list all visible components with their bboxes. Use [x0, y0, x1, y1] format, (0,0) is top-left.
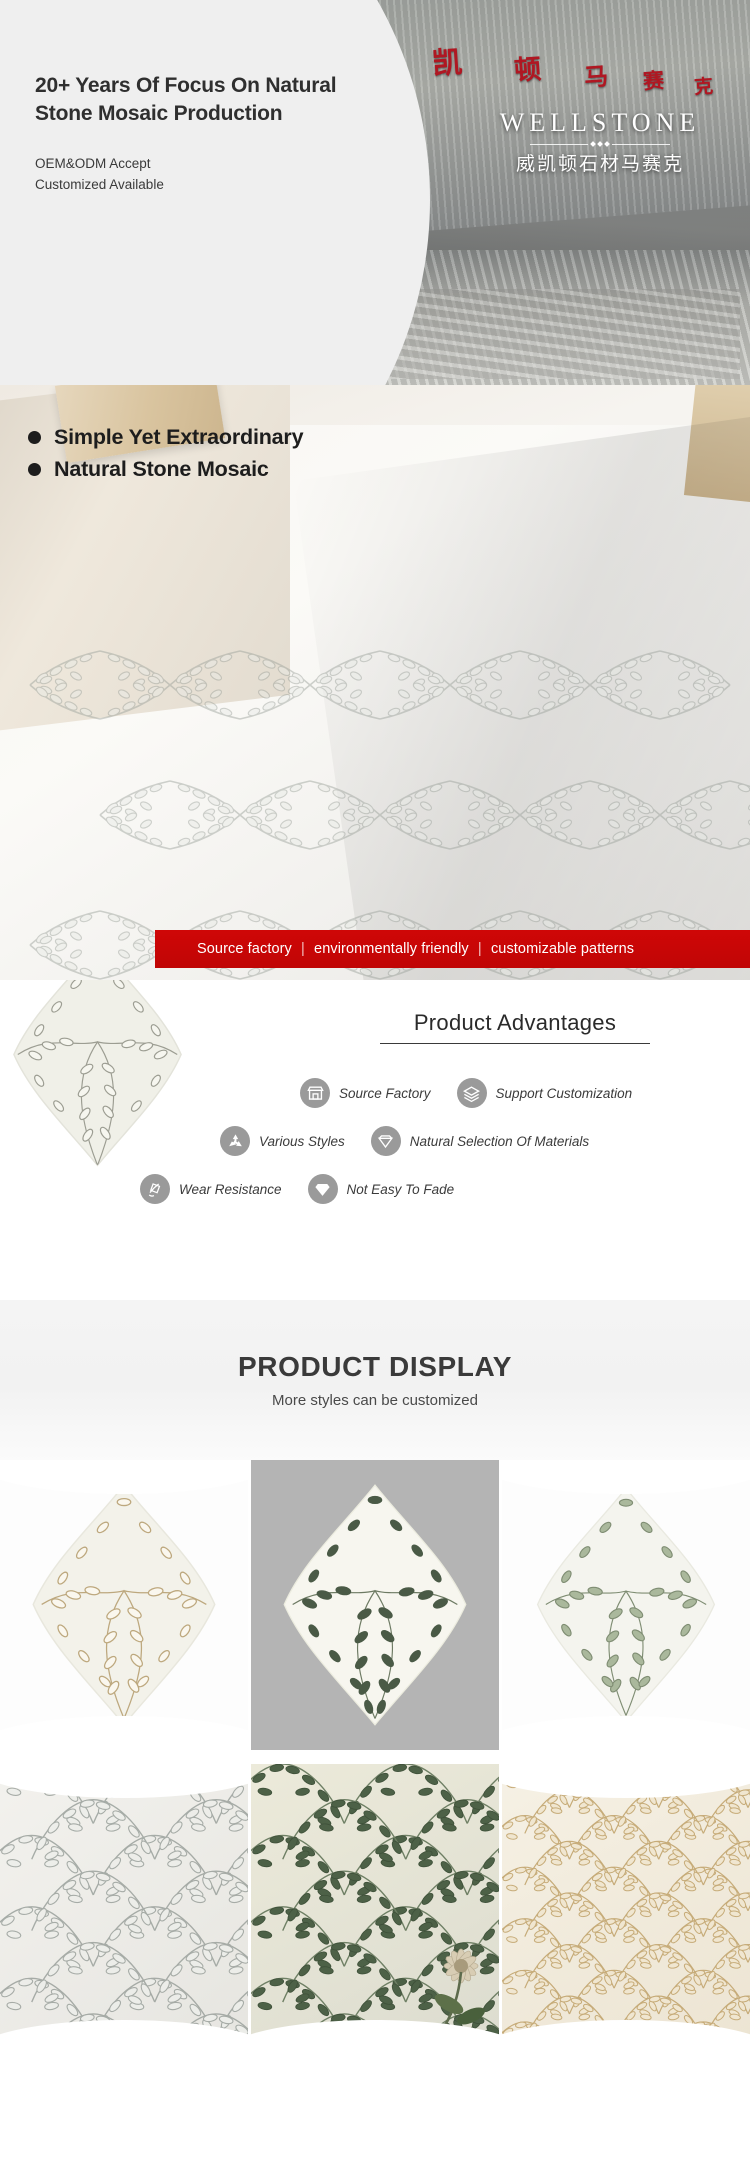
sign-char-5: 克 — [693, 71, 714, 99]
product-cell-grey-wall[interactable] — [0, 1764, 248, 2054]
bottom-curve-mask — [0, 1716, 248, 1750]
hero-subtitle: OEM&ODM Accept Customized Available — [35, 154, 345, 196]
hero-subtitle-line-2: Customized Available — [35, 175, 345, 196]
hero-section: 凯 顿 马 赛 克 20+ Years Of Focus On Natural … — [0, 0, 750, 385]
advantage-label-0: Source Factory — [339, 1086, 431, 1101]
sage-green-leaf-lantern-tile — [534, 1483, 719, 1728]
polish-hand-icon — [140, 1174, 170, 1204]
product-cell-green-wall[interactable] — [251, 1764, 499, 2054]
grey-leaf-wall-installation — [0, 1764, 248, 2052]
banner-bullet-1-label: Simple Yet Extraordinary — [54, 425, 303, 450]
diamond-icon — [308, 1174, 338, 1204]
product-display-subtitle: More styles can be customized — [272, 1392, 478, 1409]
recycle-icon — [220, 1126, 250, 1156]
bullet-dot-icon-1 — [28, 431, 41, 444]
advantage-item-wear-resistance[interactable]: Wear Resistance — [140, 1174, 282, 1204]
advantage-item-various-styles[interactable]: Various Styles — [220, 1126, 345, 1156]
product-display-section: PRODUCT DISPLAY More styles can be custo… — [0, 1300, 750, 2054]
advantage-item-source-factory[interactable]: Source Factory — [300, 1078, 431, 1108]
product-grid — [0, 1460, 750, 2054]
advantage-label-3: Natural Selection Of Materials — [410, 1134, 589, 1149]
bullet-dot-icon-2 — [28, 463, 41, 476]
dark-green-leaf-lantern-tile — [280, 1480, 470, 1730]
beige-leaf-lantern-tile — [29, 1480, 219, 1730]
featured-lantern-tile — [10, 980, 185, 1170]
advantage-label-1: Support Customization — [496, 1086, 633, 1101]
sign-char-2: 顿 — [513, 47, 543, 88]
advantage-label-5: Not Easy To Fade — [347, 1182, 455, 1197]
hero-title: 20+ Years Of Focus On Natural Stone Mosa… — [35, 72, 345, 128]
sign-char-1: 凯 — [431, 37, 464, 83]
logo-wordmark-text: WELLSTONE — [500, 108, 701, 138]
advantage-label-4: Wear Resistance — [179, 1182, 282, 1197]
advantage-label-2: Various Styles — [259, 1134, 345, 1149]
bottom-curve-mask — [251, 2020, 499, 2054]
product-cell-gold-wall[interactable] — [502, 1764, 750, 2054]
ribbon-item-1: Source factory — [197, 941, 292, 957]
product-cell-sage-green-tile[interactable] — [502, 1460, 750, 1750]
ribbon-separator-2: | — [478, 941, 482, 957]
logo-divider — [480, 142, 720, 146]
advantages-list: Source Factory Support Customization — [300, 1078, 730, 1204]
feature-ribbon: Source factory | environmentally friendl… — [155, 930, 750, 968]
bottom-curve-mask — [502, 2020, 750, 2054]
logo-divider-diamond-2 — [597, 141, 603, 147]
advantages-row-3: Wear Resistance Not Easy To Fade — [140, 1174, 730, 1204]
banner-bullet-2-label: Natural Stone Mosaic — [54, 457, 269, 482]
logo-chinese-name: 威凯顿石材马赛克 — [480, 149, 720, 176]
bottom-curve-mask — [502, 1716, 750, 1750]
logo-divider-line-right — [612, 144, 670, 145]
product-cell-beige-tile[interactable] — [0, 1460, 248, 1750]
advantages-content: Product Advantages Source Factory — [300, 1010, 730, 1222]
logo-divider-diamond-1 — [590, 141, 596, 147]
product-advantages-section: Product Advantages Source Factory — [0, 980, 750, 1300]
product-grid-row-2 — [0, 1764, 750, 2054]
gold-leaf-wall-installation — [502, 1764, 750, 2052]
logo-divider-diamond-3 — [604, 141, 610, 147]
product-display-title: PRODUCT DISPLAY — [238, 1351, 512, 1383]
gem-shield-icon — [371, 1126, 401, 1156]
hero-subtitle-line-1: OEM&ODM Accept — [35, 154, 345, 175]
product-grid-row-1 — [0, 1460, 750, 1750]
banner-bullets: Simple Yet Extraordinary Natural Stone M… — [28, 425, 303, 489]
bottom-curve-mask — [0, 2020, 248, 2054]
product-display-header: PRODUCT DISPLAY More styles can be custo… — [0, 1300, 750, 1460]
lifestyle-banner-section: Simple Yet Extraordinary Natural Stone M… — [0, 385, 750, 980]
advantage-item-natural-selection[interactable]: Natural Selection Of Materials — [371, 1126, 589, 1156]
sign-char-3: 马 — [583, 56, 609, 93]
ribbon-item-3: customizable patterns — [491, 941, 634, 957]
brand-logo: WELLSTONE 威凯顿石材马赛克 — [480, 108, 720, 176]
logo-wordmark: WELLSTONE — [480, 108, 720, 138]
advantages-heading: Product Advantages — [380, 1010, 650, 1044]
advantages-row-2: Various Styles Natural Selection Of Mate… — [220, 1126, 730, 1156]
storefront-icon — [300, 1078, 330, 1108]
ribbon-item-2: environmentally friendly — [314, 941, 469, 957]
banner-bullet-1: Simple Yet Extraordinary — [28, 425, 303, 450]
logo-divider-line-left — [530, 144, 588, 145]
product-cell-dark-green-tile[interactable] — [251, 1460, 499, 1750]
feature-ribbon-text: Source factory | environmentally friendl… — [155, 941, 634, 957]
grid-row-gap — [0, 1750, 750, 1764]
layers-icon — [457, 1078, 487, 1108]
banner-bullet-2: Natural Stone Mosaic — [28, 457, 303, 482]
hero-copy: 20+ Years Of Focus On Natural Stone Mosa… — [35, 72, 345, 196]
advantage-item-not-easy-to-fade[interactable]: Not Easy To Fade — [308, 1174, 455, 1204]
advantage-item-support-customization[interactable]: Support Customization — [457, 1078, 633, 1108]
ribbon-separator-1: | — [301, 941, 305, 957]
advantages-row-1: Source Factory Support Customization — [300, 1078, 730, 1108]
sign-char-4: 赛 — [642, 64, 665, 95]
